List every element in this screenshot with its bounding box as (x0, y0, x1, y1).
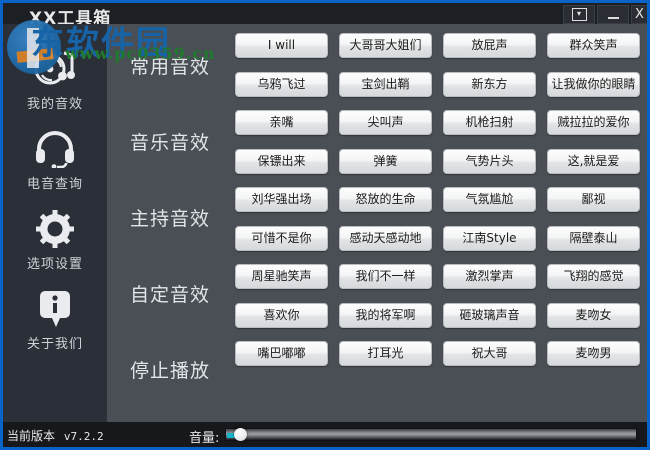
volume-slider[interactable] (225, 428, 637, 441)
minimize-button[interactable] (597, 5, 629, 24)
sound-button[interactable]: 保镖出来 (235, 149, 328, 174)
sound-button[interactable]: 弹簧 (339, 149, 432, 174)
sound-button[interactable]: 宝剑出鞘 (339, 72, 432, 97)
sound-button[interactable]: 气氛尴尬 (443, 187, 536, 212)
sound-button[interactable]: 我的将军啊 (339, 303, 432, 328)
sound-button[interactable]: 可惜不是你 (235, 226, 328, 251)
sidebar-item-about[interactable]: 关于我们 (3, 282, 107, 360)
version-label: 当前版本 (7, 429, 55, 443)
category-host[interactable]: 主持音效 (107, 204, 233, 231)
sound-button[interactable]: 贼拉拉的爱你 (547, 110, 640, 135)
category-column: 常用音效 音乐音效 主持音效 自定音效 停止播放 (107, 24, 233, 422)
minimize-icon (608, 17, 619, 19)
sound-button[interactable]: 江南Style (443, 226, 536, 251)
sound-button[interactable]: 鄙视 (547, 187, 640, 212)
sound-button[interactable]: 气势片头 (443, 149, 536, 174)
sidebar-item-label: 选项设置 (3, 253, 107, 272)
sound-button[interactable]: 祝大哥 (443, 341, 536, 366)
sidebar-item-voice-query[interactable]: 电音查询 (3, 122, 107, 200)
status-bar: 当前版本 v7.2.2 音量: (3, 422, 647, 447)
sound-button[interactable]: 感动天感动地 (339, 226, 432, 251)
sound-button[interactable]: 大哥哥大姐们 (339, 33, 432, 58)
sound-button[interactable]: 打耳光 (339, 341, 432, 366)
app-window: XX工具箱 ▾ X (0, 0, 650, 450)
sound-button[interactable]: 隔壁泰山 (547, 226, 640, 251)
sound-button[interactable]: 乌鸦飞过 (235, 72, 328, 97)
sound-button[interactable]: 喜欢你 (235, 303, 328, 328)
category-music[interactable]: 音乐音效 (107, 128, 233, 155)
category-custom[interactable]: 自定音效 (107, 280, 233, 307)
menu-button[interactable]: ▾ (563, 5, 595, 24)
info-bubble-icon (3, 286, 107, 332)
sound-button[interactable]: 刘华强出场 (235, 187, 328, 212)
sidebar-item-label: 关于我们 (3, 333, 107, 352)
sound-button[interactable]: 尖叫声 (339, 110, 432, 135)
sound-button[interactable]: 激烈掌声 (443, 264, 536, 289)
sound-button[interactable]: 怒放的生命 (339, 187, 432, 212)
sound-button[interactable]: 机枪扫射 (443, 110, 536, 135)
volume-slider-knob[interactable] (234, 428, 247, 441)
sound-button[interactable]: 这,就是爱 (547, 149, 640, 174)
sidebar-item-label: 我的音效 (3, 93, 107, 112)
main-panel: 常用音效 音乐音效 主持音效 自定音效 停止播放 I will大哥哥大姐们放屁声… (107, 24, 647, 422)
sound-button[interactable]: 砸玻璃声音 (443, 303, 536, 328)
sidebar-item-settings[interactable]: 选项设置 (3, 202, 107, 280)
sound-button[interactable]: 麦吻女 (547, 303, 640, 328)
sound-button[interactable]: 飞翔的感觉 (547, 264, 640, 289)
sound-button[interactable]: 新东方 (443, 72, 536, 97)
version-value: v7.2.2 (64, 430, 104, 443)
sidebar-item-label: 电音查询 (3, 173, 107, 192)
sound-button[interactable]: 周星驰笑声 (235, 264, 328, 289)
watermark-url: www.pc0359.cn (65, 44, 216, 63)
sound-button-grid: I will大哥哥大姐们放屁声群众笑声乌鸦飞过宝剑出鞘新东方让我做你的眼睛亲嘴尖… (233, 24, 647, 422)
sound-button[interactable]: 麦吻男 (547, 341, 640, 366)
sound-button[interactable]: 群众笑声 (547, 33, 640, 58)
sound-button[interactable]: I will (235, 33, 328, 58)
chevron-down-icon: ▾ (572, 8, 587, 21)
headset-icon (3, 126, 107, 172)
version-text: 当前版本 v7.2.2 (7, 427, 104, 444)
sound-button[interactable]: 放屁声 (443, 33, 536, 58)
sound-button[interactable]: 让我做你的眼睛 (547, 72, 640, 97)
close-button[interactable]: X (631, 5, 647, 24)
sidebar: 我的音效 电音查询 (3, 24, 107, 422)
category-stop[interactable]: 停止播放 (107, 356, 233, 383)
gear-icon (3, 206, 107, 252)
volume-label: 音量: (189, 427, 219, 446)
sound-button[interactable]: 亲嘴 (235, 110, 328, 135)
sound-button[interactable]: 嘴巴嘟嘟 (235, 341, 328, 366)
sound-button[interactable]: 我们不一样 (339, 264, 432, 289)
content-area: 我的音效 电音查询 (3, 24, 647, 422)
